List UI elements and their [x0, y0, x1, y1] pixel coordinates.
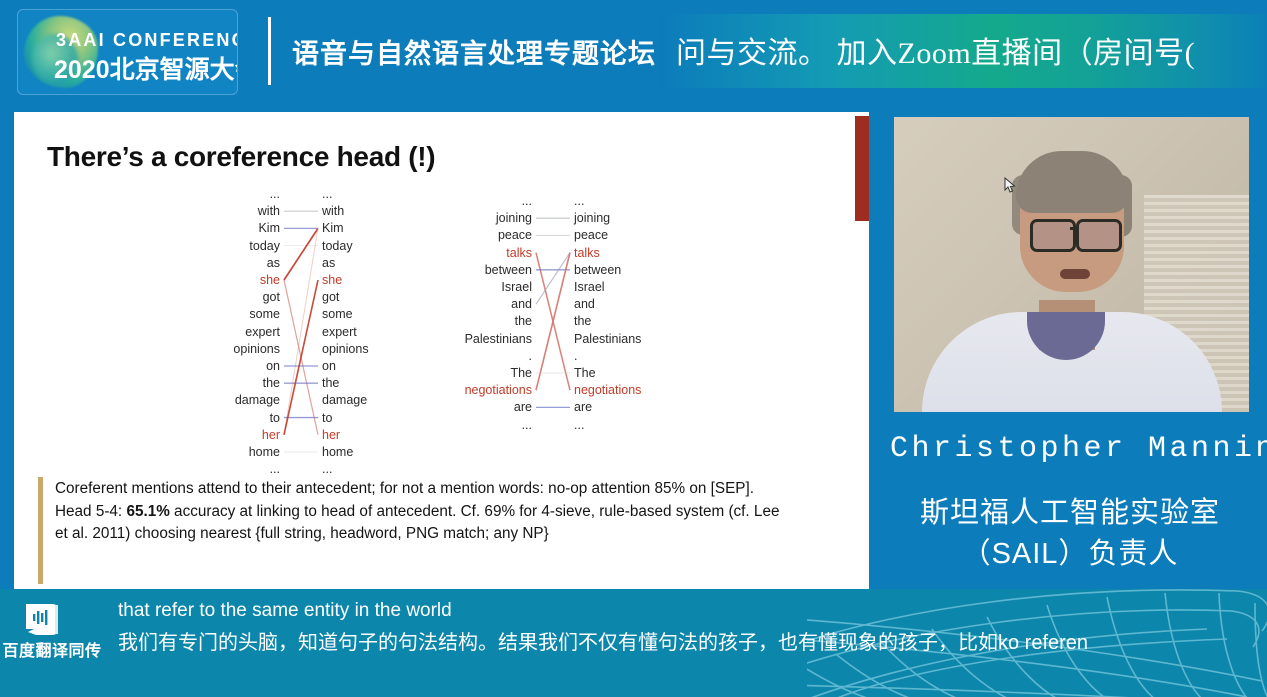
attention-diagram-right: ...joiningpeacetalksbetweenIsraelandtheP… — [434, 192, 634, 442]
slide-title: There’s a coreference head (!) — [47, 141, 435, 173]
attention-token-source: the — [515, 315, 532, 327]
attention-token-target: to — [322, 412, 332, 424]
logo-line-one: 3AAI CONFERENCE — [56, 30, 238, 51]
attention-token-target: got — [322, 291, 339, 303]
attention-token-source: home — [249, 446, 280, 458]
token-column-target-right: ...joiningpeacetalksbetweenIsraelandtheP… — [574, 192, 674, 442]
attention-token-source: negotiations — [465, 384, 532, 396]
attention-token-target: ... — [574, 419, 584, 431]
attention-token-source: opinions — [233, 343, 280, 355]
speaker-name: Christopher Manning — [890, 432, 1250, 466]
attention-token-target: ... — [322, 188, 332, 200]
attention-token-target: with — [322, 205, 344, 217]
attention-token-source: her — [262, 429, 280, 441]
attention-token-source: she — [260, 274, 280, 286]
attention-token-source: joining — [496, 212, 532, 224]
caption-accent-bar — [38, 477, 43, 584]
video-speaker-glasses-right — [1076, 219, 1122, 252]
attention-token-source: Palestinians — [465, 333, 532, 345]
attention-token-target: are — [574, 401, 592, 413]
attention-token-source: Israel — [501, 281, 532, 293]
video-speaker-glasses-bridge — [1070, 227, 1078, 230]
attention-token-target: today — [322, 240, 353, 252]
token-column-source-right: ...joiningpeacetalksbetweenIsraelandtheP… — [434, 192, 532, 442]
attention-token-target: opinions — [322, 343, 369, 355]
presentation-slide[interactable]: There’s a coreference head (!) ...withKi… — [14, 112, 869, 589]
attention-token-target: talks — [574, 247, 600, 259]
attention-token-target: . — [574, 350, 577, 362]
attention-token-source: Kim — [258, 222, 280, 234]
attention-token-target: ... — [322, 463, 332, 475]
attention-token-source: as — [267, 257, 280, 269]
attention-token-target: peace — [574, 229, 608, 241]
forum-title: 语音与自然语言处理专题论坛 — [292, 32, 656, 71]
attention-token-target: ... — [574, 195, 584, 207]
attention-token-target: and — [574, 298, 595, 310]
slide-scrollbar-thumb[interactable] — [855, 116, 869, 221]
attention-token-target: Kim — [322, 222, 344, 234]
attention-token-source: and — [511, 298, 532, 310]
attention-token-source: today — [249, 240, 280, 252]
attention-token-source: ... — [270, 188, 280, 200]
header-marquee-text: 问与交流。 加入Zoom直播间（房间号( — [676, 28, 1195, 72]
attention-token-source: ... — [270, 463, 280, 475]
attention-token-source: got — [263, 291, 280, 303]
video-speaker-glasses-left — [1030, 219, 1076, 252]
attention-token-target: Israel — [574, 281, 605, 293]
logo-line-two: 2020北京智源大会 — [54, 50, 238, 86]
attention-token-target: on — [322, 360, 336, 372]
attention-token-source: ... — [522, 195, 532, 207]
attention-token-target: Palestinians — [574, 333, 641, 345]
speaker-affiliation-line-1: 斯坦福人工智能实验室 — [890, 489, 1250, 531]
subtitle-chinese: 我们有专门的头脑，知道句子的句法结构。结果我们不仅有懂句法的孩子，也有懂现象的孩… — [118, 626, 1088, 655]
video-speaker-mouth — [1060, 269, 1090, 279]
attention-token-source: the — [263, 377, 280, 389]
attention-token-target: the — [574, 315, 591, 327]
attention-token-target: negotiations — [574, 384, 641, 396]
attention-link — [284, 228, 318, 280]
caption-highlight: 65.1% — [126, 503, 169, 520]
attention-token-source: between — [485, 264, 532, 276]
attention-diagram-left: ...withKimtodayasshegotsomeexpertopinion… — [214, 185, 354, 470]
slide-caption: Coreferent mentions attend to their ante… — [55, 478, 845, 546]
attention-token-source: damage — [235, 394, 280, 406]
token-column-target-left: ...withKimtodayasshegotsomeexpertopinion… — [322, 185, 402, 470]
speaker-affiliation-line-2: （SAIL）负责人 — [890, 530, 1250, 572]
attention-token-source: expert — [245, 326, 280, 338]
mouse-cursor-icon — [1004, 177, 1016, 194]
attention-token-source: with — [258, 205, 280, 217]
attention-token-target: damage — [322, 394, 367, 406]
attention-token-source: . — [529, 350, 532, 362]
speaker-video-feed[interactable] — [890, 113, 1253, 416]
attention-token-target: expert — [322, 326, 357, 338]
baidu-translate-icon — [22, 599, 64, 637]
baai-conference-logo: 3AAI CONFERENCE 2020北京智源大会 — [17, 9, 238, 95]
attention-link — [284, 228, 318, 434]
attention-token-target: some — [322, 308, 353, 320]
video-speaker-hair — [1016, 151, 1128, 213]
baidu-brand-text: 百度翻译同传 — [0, 637, 104, 661]
attention-token-target: between — [574, 264, 621, 276]
attention-token-source: The — [510, 367, 532, 379]
top-header-bar: 3AAI CONFERENCE 2020北京智源大会 语音与自然语言处理专题论坛… — [0, 0, 1267, 101]
attention-token-target: the — [322, 377, 339, 389]
attention-token-source: some — [249, 308, 280, 320]
attention-token-target: home — [322, 446, 353, 458]
attention-token-source: talks — [506, 247, 532, 259]
attention-token-source: on — [266, 360, 280, 372]
attention-token-source: peace — [498, 229, 532, 241]
attention-token-target: her — [322, 429, 340, 441]
attention-token-source: are — [514, 401, 532, 413]
attention-token-source: ... — [522, 419, 532, 431]
subtitle-english: that refer to the same entity in the wor… — [118, 600, 452, 622]
token-column-source-left: ...withKimtodayasshegotsomeexpertopinion… — [214, 185, 280, 470]
attention-token-target: she — [322, 274, 342, 286]
header-divider — [268, 17, 271, 85]
attention-token-target: joining — [574, 212, 610, 224]
attention-token-source: to — [270, 412, 280, 424]
attention-token-target: The — [574, 367, 596, 379]
attention-link — [536, 253, 570, 305]
attention-token-target: as — [322, 257, 335, 269]
